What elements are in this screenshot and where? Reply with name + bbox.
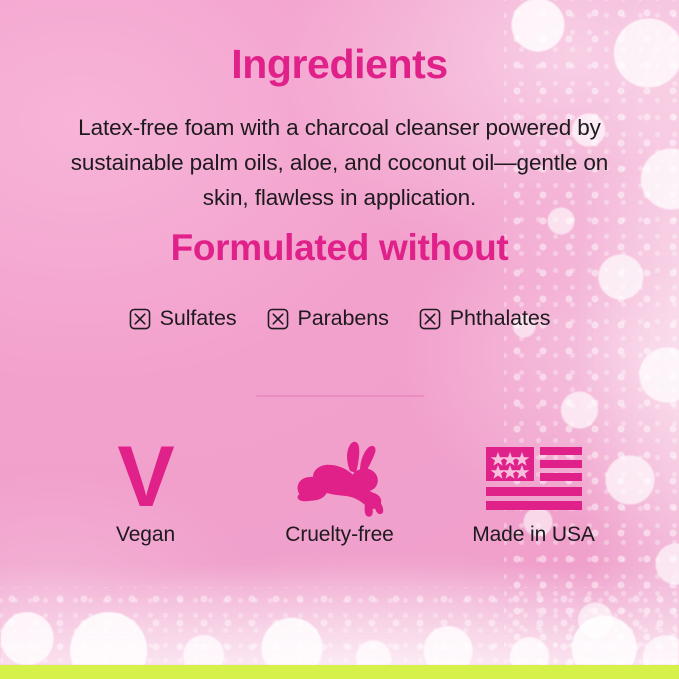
- exclusion-item-sulfates: Sulfates: [129, 308, 237, 330]
- badge-made-in-usa: Made in USA: [459, 434, 609, 545]
- vegan-v-icon: V: [117, 434, 173, 520]
- badge-label: Made in USA: [472, 524, 595, 545]
- exclusion-item-parabens: Parabens: [267, 308, 389, 330]
- rabbit-icon: [280, 437, 400, 517]
- exclusion-label: Sulfates: [160, 308, 237, 330]
- badge-label: Cruelty-free: [285, 524, 394, 545]
- exclusion-label: Phthalates: [450, 308, 551, 330]
- x-box-icon: [129, 308, 151, 330]
- product-infographic: Ingredients Latex-free foam with a charc…: [0, 0, 679, 679]
- rabbit-icon-wrap: [280, 434, 400, 520]
- exclusions-list: Sulfates Parabens Phthalates: [0, 308, 679, 330]
- vegan-v-glyph: V: [117, 442, 173, 513]
- content-layer: Ingredients Latex-free foam with a charc…: [0, 0, 679, 679]
- badge-vegan: V Vegan: [71, 434, 221, 545]
- exclusion-item-phthalates: Phthalates: [419, 308, 551, 330]
- badge-cruelty-free: Cruelty-free: [265, 434, 415, 545]
- section-divider: [256, 395, 424, 397]
- usa-flag-icon-wrap: [484, 434, 584, 520]
- x-box-icon: [267, 308, 289, 330]
- certification-badges: V Vegan: [0, 434, 679, 545]
- x-box-icon: [419, 308, 441, 330]
- ingredients-description: Latex-free foam with a charcoal cleanser…: [48, 110, 631, 215]
- usa-flag-icon: [484, 441, 584, 513]
- badge-label: Vegan: [116, 524, 175, 545]
- exclusion-label: Parabens: [298, 308, 389, 330]
- formulated-without-heading: Formulated without: [0, 228, 679, 269]
- ingredients-heading: Ingredients: [0, 42, 679, 87]
